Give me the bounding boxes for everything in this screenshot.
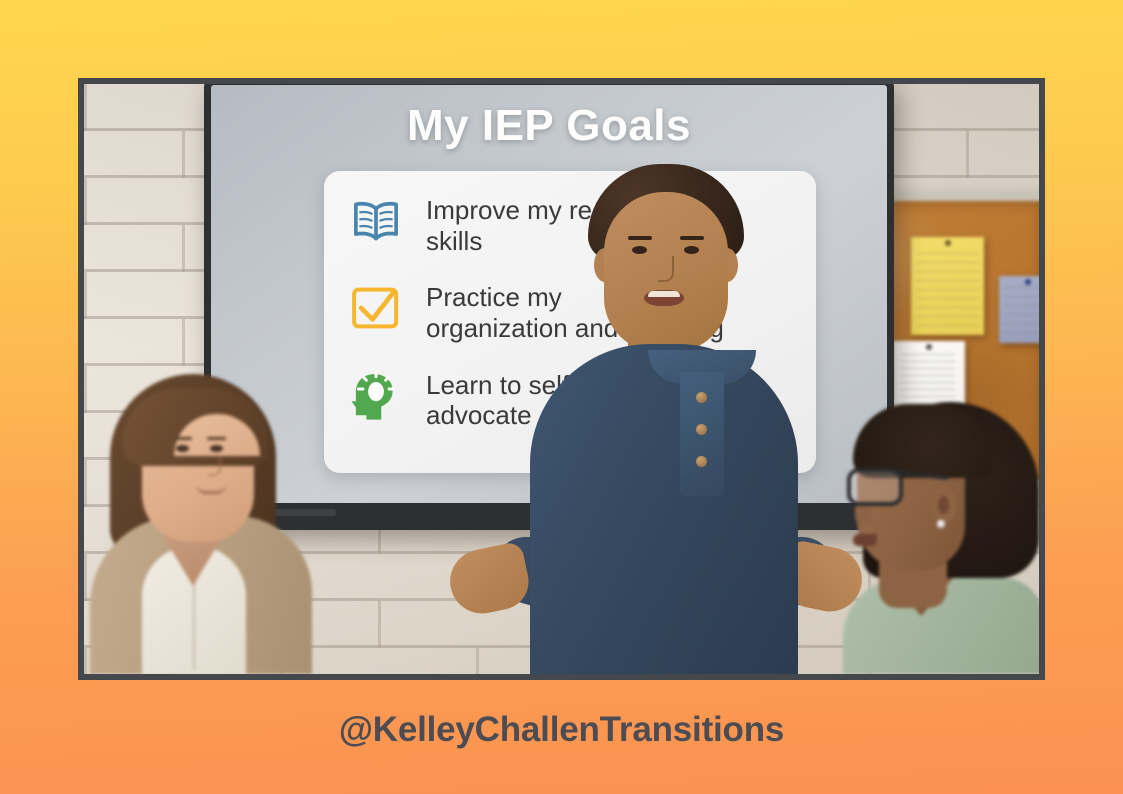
eyebrow: [173, 437, 192, 440]
eyebrow: [207, 437, 226, 440]
eyebrow: [680, 236, 704, 240]
blue-sticky-note: [999, 276, 1040, 343]
earring: [937, 520, 945, 528]
mouth: [644, 290, 684, 306]
yellow-sticky-note: [911, 237, 984, 335]
nose: [658, 256, 674, 282]
pushpin-icon: [1025, 279, 1031, 285]
shirt-button: [696, 456, 707, 467]
pushpin-icon: [926, 344, 932, 350]
slide-title: My IEP Goals: [211, 101, 887, 151]
eye: [684, 246, 699, 254]
eye: [632, 246, 647, 254]
shirt-button: [696, 424, 707, 435]
nose: [208, 456, 221, 476]
open-book-icon: [348, 193, 404, 249]
eye: [176, 445, 189, 452]
head-lightbulb-icon: [348, 368, 404, 424]
mouth: [853, 534, 877, 546]
seated-woman-left: [84, 364, 314, 674]
shirt-button: [696, 392, 707, 403]
classroom-photo: My IEP Goals: [84, 84, 1039, 674]
presenting-student-center: [492, 154, 832, 674]
note-ruled-lines: [916, 253, 979, 327]
seated-woman-right: [839, 394, 1039, 674]
eye: [210, 445, 223, 452]
hair-front: [853, 404, 993, 478]
photo-frame: My IEP Goals: [78, 78, 1045, 680]
hair-front: [122, 388, 268, 466]
pushpin-icon: [945, 240, 951, 246]
eyeglasses: [847, 468, 943, 498]
eyebrow: [628, 236, 652, 240]
navy-henley-shirt: [530, 344, 798, 674]
checkbox-check-icon: [348, 280, 404, 336]
social-handle-caption: @KelleyChallenTransitions: [0, 710, 1123, 750]
note-ruled-lines: [1003, 287, 1039, 338]
